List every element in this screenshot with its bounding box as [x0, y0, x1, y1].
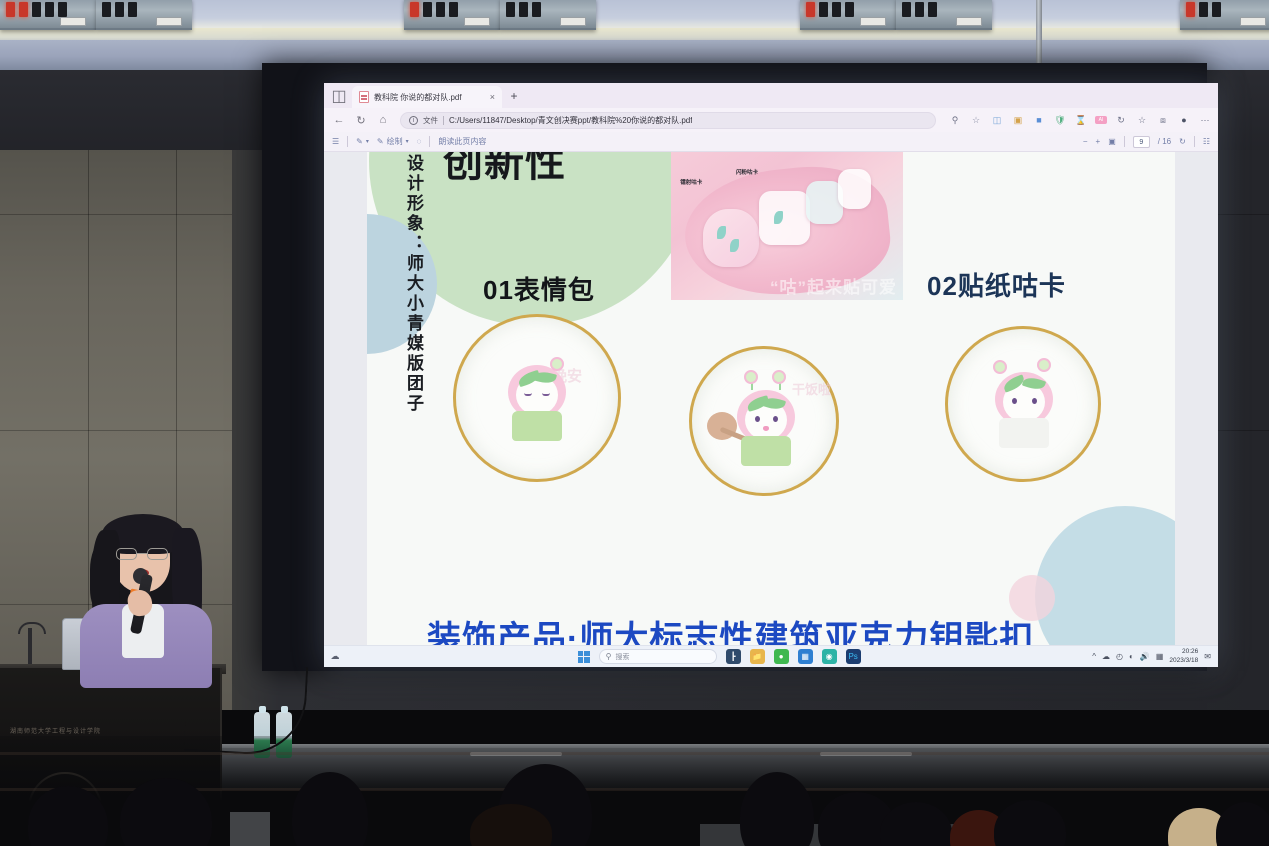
address-bar[interactable]: i 文件 C:/Users/11847/Desktop/青文创决赛ppt/教科院…: [400, 112, 936, 129]
mascot-circle-3: [945, 326, 1101, 482]
pdf-viewport[interactable]: 创新性 设计形象：师大小青媒版团子 镭: [324, 152, 1218, 645]
audience-row-line: [0, 752, 1269, 755]
charm-item: [838, 169, 870, 209]
ceiling-light-fixture: [96, 0, 192, 30]
favorites-icon[interactable]: ☆: [969, 113, 983, 127]
notification-icon[interactable]: ✉: [1204, 652, 1211, 661]
url-text: C:/Users/11847/Desktop/青文创决赛ppt/教科院%20你说…: [449, 115, 692, 126]
mascot-illustration: [729, 386, 799, 462]
refresh-icon[interactable]: ↻: [352, 111, 370, 129]
onedrive-icon[interactable]: ☁: [1102, 652, 1110, 661]
shield-icon[interactable]: 🛡: [1053, 113, 1067, 127]
ceiling-light-fixture: [800, 0, 896, 30]
battery-icon[interactable]: ▦: [1156, 652, 1164, 661]
toolbar-divider: [347, 136, 348, 147]
slide-page: 创新性 设计形象：师大小青媒版团子 镭: [367, 152, 1175, 645]
clock-date: 2023/3/18: [1169, 657, 1198, 665]
search-placeholder: 搜索: [615, 652, 629, 662]
omnibox-divider: [443, 116, 444, 125]
ceiling-light-fixture: [0, 0, 96, 30]
zoom-out-button[interactable]: −: [1083, 137, 1088, 146]
browser-window: ◫ 教科院 你说的都对队.pdf × + ← ↻ ⌂ i 文件 C:/Users…: [324, 83, 1218, 667]
ceiling-light-fixture: [500, 0, 596, 30]
read-aloud-button[interactable]: 朗读此页内容: [438, 136, 486, 147]
erase-button[interactable]: ◌: [417, 137, 422, 146]
new-tab-button[interactable]: +: [504, 86, 524, 106]
volume-icon[interactable]: 🔊: [1140, 652, 1150, 661]
page-layout-icon[interactable]: ☷: [1203, 137, 1210, 146]
windows-taskbar: ☁ ⚲ 搜索 ┣ 📁 ● ▦ ◉ Ps ^ ☁ ◴: [324, 645, 1218, 667]
highlight-button[interactable]: ✎▾: [356, 137, 369, 146]
add-favorite-icon[interactable]: ☆: [1135, 113, 1149, 127]
photo-label-left: 镭射咕卡: [680, 178, 702, 186]
browser-toolbar-icons: ⚲ ☆ ◫ ▣ ■ 🛡 ⌛ AI ↻ ☆ ⧈ ● ⋯: [944, 113, 1212, 127]
copilot-icon[interactable]: AI: [1095, 116, 1107, 124]
profile-icon[interactable]: ●: [1177, 113, 1191, 127]
audience-desk: [230, 812, 270, 846]
draw-button[interactable]: ✎绘制▾: [377, 136, 409, 147]
scheme-label: 文件: [423, 115, 438, 126]
site-info-icon[interactable]: i: [409, 116, 418, 125]
design-image-label: 设计形象：师大小青媒版团子: [389, 154, 423, 414]
system-tray: ^ ☁ ◴ ◐ 🔊 ▦ 20:26 2023/3/18 ✉: [1092, 648, 1218, 664]
section-heading-01: 01表情包: [483, 270, 595, 307]
audience: [0, 736, 1269, 846]
clock-time: 20:26: [1169, 648, 1198, 656]
wall-seam: [0, 430, 232, 431]
decor-blue-blob: [1035, 506, 1175, 645]
more-icon[interactable]: ⋯: [1198, 113, 1212, 127]
taskbar-center: ⚲ 搜索 ┣ 📁 ● ▦ ◉ Ps: [346, 649, 1092, 664]
mascot-illustration: [987, 368, 1059, 446]
draw-label: 绘制: [387, 136, 403, 147]
presenter: [76, 508, 212, 678]
product-photo: 镭射咕卡 闪粉咕卡 “咕”起来贴可爱: [671, 152, 903, 300]
browser-essentials-icon[interactable]: ■: [1032, 113, 1046, 127]
photo-watermark: “咕”起来贴可爱: [770, 280, 897, 296]
rotate-icon[interactable]: ↻: [1179, 137, 1186, 146]
wall-seam: [0, 214, 232, 215]
ceiling-light-fixture: [1180, 0, 1269, 30]
refresh-circle-icon[interactable]: ↻: [1114, 113, 1128, 127]
back-icon[interactable]: ←: [330, 111, 348, 129]
toolbar-divider: [429, 136, 430, 147]
section-heading-02: 02贴纸咕卡: [927, 266, 1066, 303]
contents-button[interactable]: ☰: [332, 137, 339, 146]
ceiling-light-fixture: [404, 0, 500, 30]
folder-icon[interactable]: 📁: [750, 649, 765, 664]
photo-label-right: 闪粉咕卡: [736, 168, 758, 176]
app-store-icon[interactable]: ▦: [798, 649, 813, 664]
zoom-in-button[interactable]: +: [1096, 137, 1101, 146]
photoshop-icon[interactable]: Ps: [846, 649, 861, 664]
file-explorer-icon[interactable]: ┣: [726, 649, 741, 664]
windows-logo[interactable]: [578, 651, 590, 663]
taskbar-clock[interactable]: 20:26 2023/3/18: [1169, 648, 1198, 664]
read-aloud-label: 朗读此页内容: [438, 136, 486, 147]
charm-item: [703, 209, 759, 267]
slide-top-title: 创新性: [443, 152, 566, 188]
slide-bottom-heading: 装饰产品·师大标志性建筑亚克力钥匙扣: [427, 611, 1034, 645]
taskbar-search[interactable]: ⚲ 搜索: [599, 649, 717, 664]
pdf-file-icon: [359, 91, 369, 103]
wallet-icon[interactable]: ▣: [1011, 113, 1025, 127]
search-icon: ⚲: [606, 652, 612, 661]
toolbar-divider: [1194, 136, 1195, 147]
wifi-icon[interactable]: ◐: [1129, 652, 1134, 661]
taskbar-corner-icon[interactable]: ☁: [324, 651, 346, 662]
history-icon[interactable]: ⌛: [1074, 113, 1088, 127]
podium-sign-text: 湖南师范大学工程与设计学院: [10, 726, 101, 735]
auditorium-scene: 投影机吸顶安装支架 ◫ 教科院 你说的都对队.pdf × + ← ↻ ⌂: [0, 0, 1269, 846]
show-hidden-icon[interactable]: ^: [1092, 652, 1096, 661]
browser-tabstrip: ◫ 教科院 你说的都对队.pdf × +: [324, 83, 1218, 108]
page-total-label: / 16: [1158, 137, 1171, 146]
presenter-glasses: [116, 548, 168, 560]
charm-item: [759, 191, 810, 246]
mascot-circle-2: 干饭啦: [689, 346, 839, 496]
edge-icon[interactable]: ◉: [822, 649, 837, 664]
tab-title: 教科院 你说的都对队.pdf: [374, 92, 485, 103]
tab-list-icon[interactable]: ◫: [328, 86, 350, 105]
mascot-illustration: [500, 361, 574, 441]
ceiling-light-fixture: [896, 0, 992, 30]
page-number-input[interactable]: 9: [1133, 136, 1150, 148]
wechat-icon[interactable]: ●: [774, 649, 789, 664]
mascot-circle-1: 晚安: [453, 314, 621, 482]
close-icon[interactable]: ×: [490, 93, 495, 102]
fit-page-icon[interactable]: ▣: [1108, 137, 1116, 146]
search-icon[interactable]: ⚲: [948, 113, 962, 127]
collections-icon[interactable]: ◫: [990, 113, 1004, 127]
toolbar-divider: [1124, 136, 1125, 147]
browser-tab[interactable]: 教科院 你说的都对队.pdf ×: [352, 86, 502, 108]
projection-screen: ◫ 教科院 你说的都对队.pdf × + ← ↻ ⌂ i 文件 C:/Users…: [324, 83, 1218, 667]
extensions-icon[interactable]: ⧈: [1156, 113, 1170, 127]
pdf-toolbar: ☰ ✎▾ ✎绘制▾ ◌ 朗读此页内容 − + ▣ 9 / 16 ↻: [324, 132, 1218, 152]
browser-navbar: ← ↻ ⌂ i 文件 C:/Users/11847/Desktop/青文创决赛p…: [324, 108, 1218, 132]
home-icon[interactable]: ⌂: [374, 111, 392, 129]
network-icon[interactable]: ◴: [1116, 652, 1123, 661]
